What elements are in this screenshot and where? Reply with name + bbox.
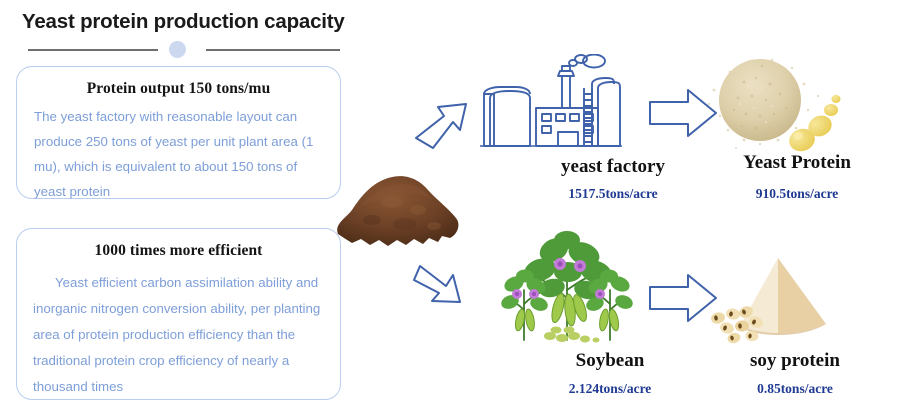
arrow-soil-to-factory-icon — [408, 96, 482, 154]
card-efficiency-heading: 1000 times more efficient — [17, 242, 340, 260]
card-protein-output: Protein output 150 tons/mu The yeast fac… — [16, 66, 341, 199]
label-yeast-protein: Yeast Protein — [722, 152, 872, 174]
divider-dot-icon — [169, 41, 186, 58]
value-yeast-factory: 1517.5tons/acre — [548, 186, 678, 202]
soil-mound-icon — [330, 158, 465, 253]
label-soybean: Soybean — [545, 350, 675, 372]
value-soybean: 2.124tons/acre — [545, 381, 675, 397]
card-protein-output-body: The yeast factory with reasonable layout… — [17, 104, 340, 204]
yeast-powder-icon — [700, 52, 848, 156]
card-protein-output-heading: Protein output 150 tons/mu — [17, 80, 340, 98]
page-title: Yeast protein production capacity — [22, 10, 345, 34]
arrow-soil-to-soybean-icon — [408, 252, 482, 314]
title-divider — [28, 40, 340, 58]
value-yeast-protein: 910.5tons/acre — [722, 186, 872, 202]
card-efficiency-body: Yeast efficient carbon assimilation abil… — [17, 270, 340, 400]
value-soy-protein: 0.85tons/acre — [720, 381, 870, 397]
label-yeast-factory: yeast factory — [548, 156, 678, 178]
factory-icon — [480, 54, 622, 154]
soybean-plant-icon — [492, 228, 642, 350]
soy-powder-icon — [700, 252, 850, 350]
card-efficiency: 1000 times more efficient Yeast efficien… — [16, 228, 341, 400]
divider-line-right — [206, 49, 340, 51]
divider-line-left — [28, 49, 158, 51]
label-soy-protein: soy protein — [720, 350, 870, 372]
